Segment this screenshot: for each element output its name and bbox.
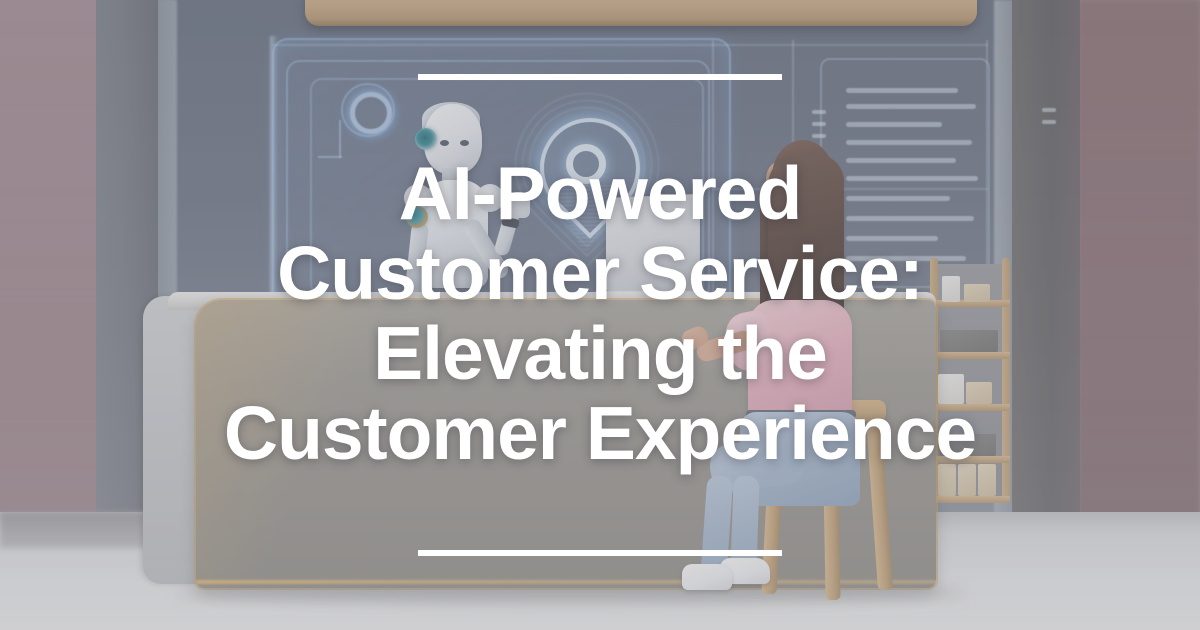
page-title: AI-Powered Customer Service: Elevating t… <box>224 153 976 474</box>
title-line-2: Customer Service: <box>224 233 976 313</box>
divider-top <box>418 74 782 80</box>
title-line-4: Customer Experience <box>224 393 976 473</box>
banner-image: AI-Powered Customer Service: Elevating t… <box>0 0 1200 630</box>
title-line-3: Elevating the <box>224 313 976 393</box>
divider-bottom <box>418 550 782 556</box>
title-line-1: AI-Powered <box>224 153 976 233</box>
title-block: AI-Powered Customer Service: Elevating t… <box>0 0 1200 630</box>
